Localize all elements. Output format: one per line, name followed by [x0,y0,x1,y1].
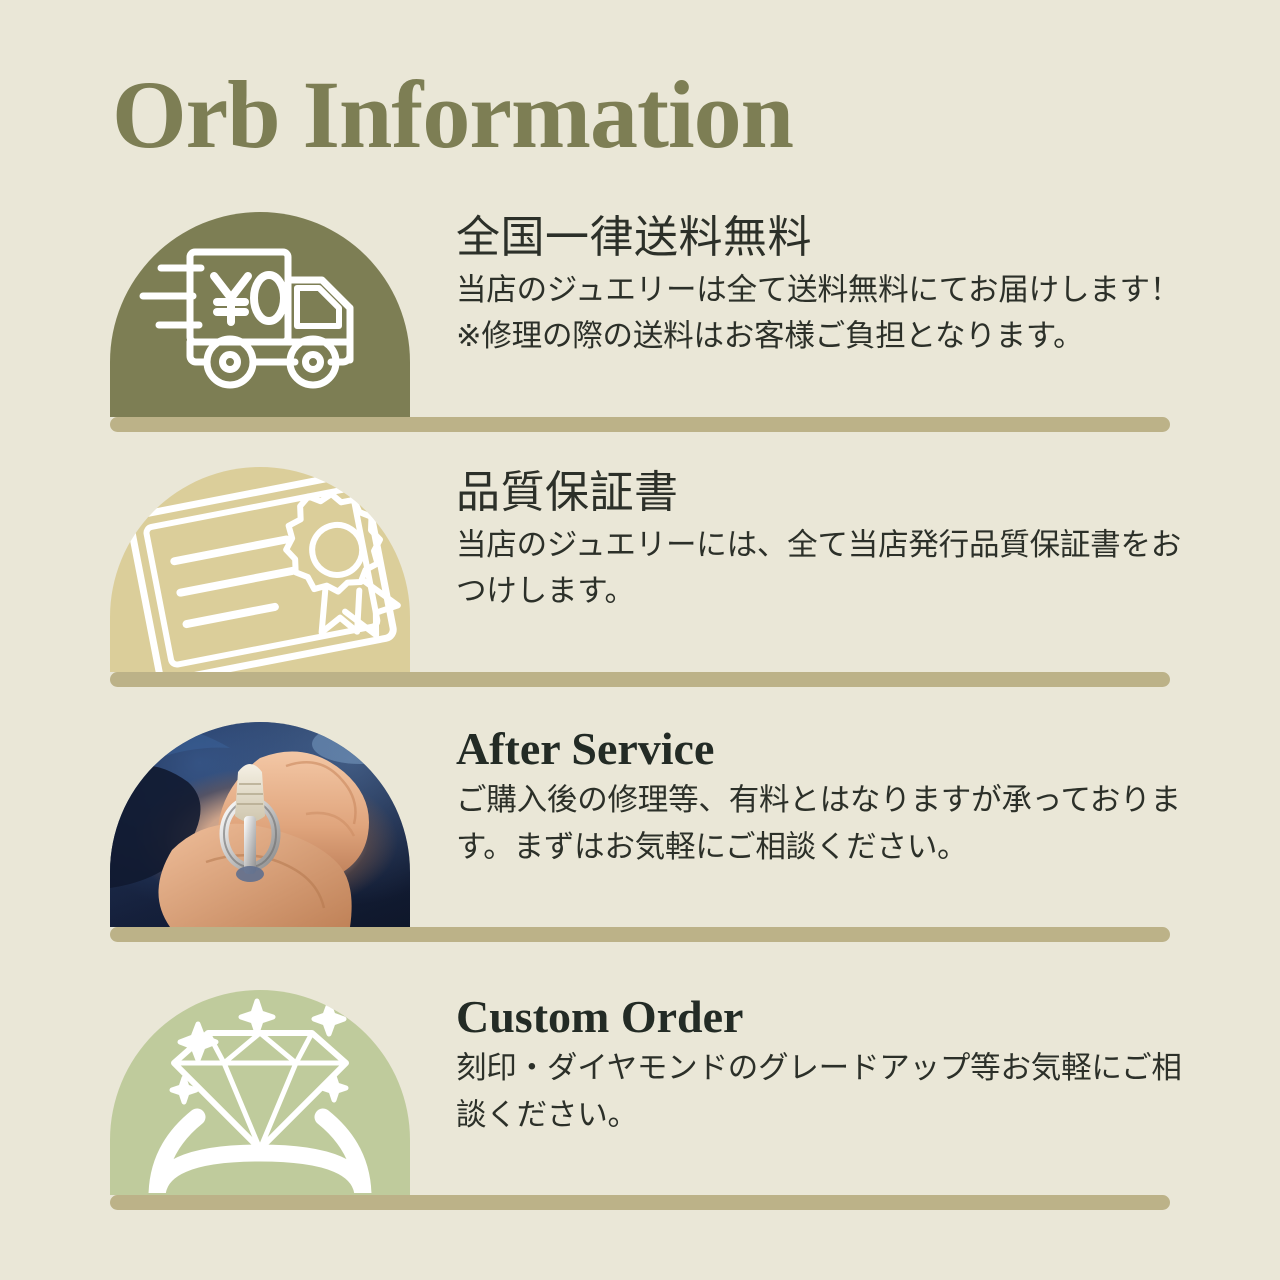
quality-certificate-description: 当店のジュエリーには、全て当店発行品質保証書をおつけします。 [456,523,1196,616]
after-service-title: After Service [456,722,1196,776]
custom-order-title: Custom Order [456,990,1196,1044]
divider-3 [110,927,1170,942]
divider-4 [110,1195,1170,1210]
jeweler-photo [110,722,410,927]
quality-certificate-title: 品質保証書 [456,467,1196,519]
free-shipping-arch [110,212,410,417]
section-custom-order: Custom Order 刻印・ダイヤモンドのグレードアップ等お気軽にご相談くだ… [0,990,1280,1195]
quality-certificate-arch [110,467,410,672]
section-free-shipping: 全国一律送料無料 当店のジュエリーは全て送料無料にてお届けします！※修理の際の送… [0,212,1280,417]
free-shipping-text: 全国一律送料無料 当店のジュエリーは全て送料無料にてお届けします！※修理の際の送… [456,212,1196,361]
free-shipping-title: 全国一律送料無料 [456,212,1196,264]
divider-1 [110,417,1170,432]
orb-information-page: Orb Information [0,0,1280,1280]
free-shipping-description: 当店のジュエリーは全て送料無料にてお届けします！※修理の際の送料はお客様ご負担と… [456,268,1196,361]
quality-certificate-text: 品質保証書 当店のジュエリーには、全て当店発行品質保証書をおつけします。 [456,467,1196,616]
divider-2 [110,672,1170,687]
custom-order-arch [110,990,410,1195]
after-service-description: ご購入後の修理等、有料とはなりますが承っております。まずはお気軽にご相談ください… [456,778,1196,871]
diamond-ring-icon [110,990,410,1195]
delivery-truck-icon [110,212,410,417]
section-after-service: After Service ご購入後の修理等、有料とはなりますが承っております。… [0,722,1280,927]
section-quality-certificate: 品質保証書 当店のジュエリーには、全て当店発行品質保証書をおつけします。 [0,467,1280,672]
certificate-icon [110,467,410,672]
after-service-text: After Service ご購入後の修理等、有料とはなりますが承っております。… [456,722,1196,871]
custom-order-text: Custom Order 刻印・ダイヤモンドのグレードアップ等お気軽にご相談くだ… [456,990,1196,1139]
after-service-arch [110,722,410,927]
page-title: Orb Information [112,62,793,168]
custom-order-description: 刻印・ダイヤモンドのグレードアップ等お気軽にご相談ください。 [456,1046,1196,1139]
